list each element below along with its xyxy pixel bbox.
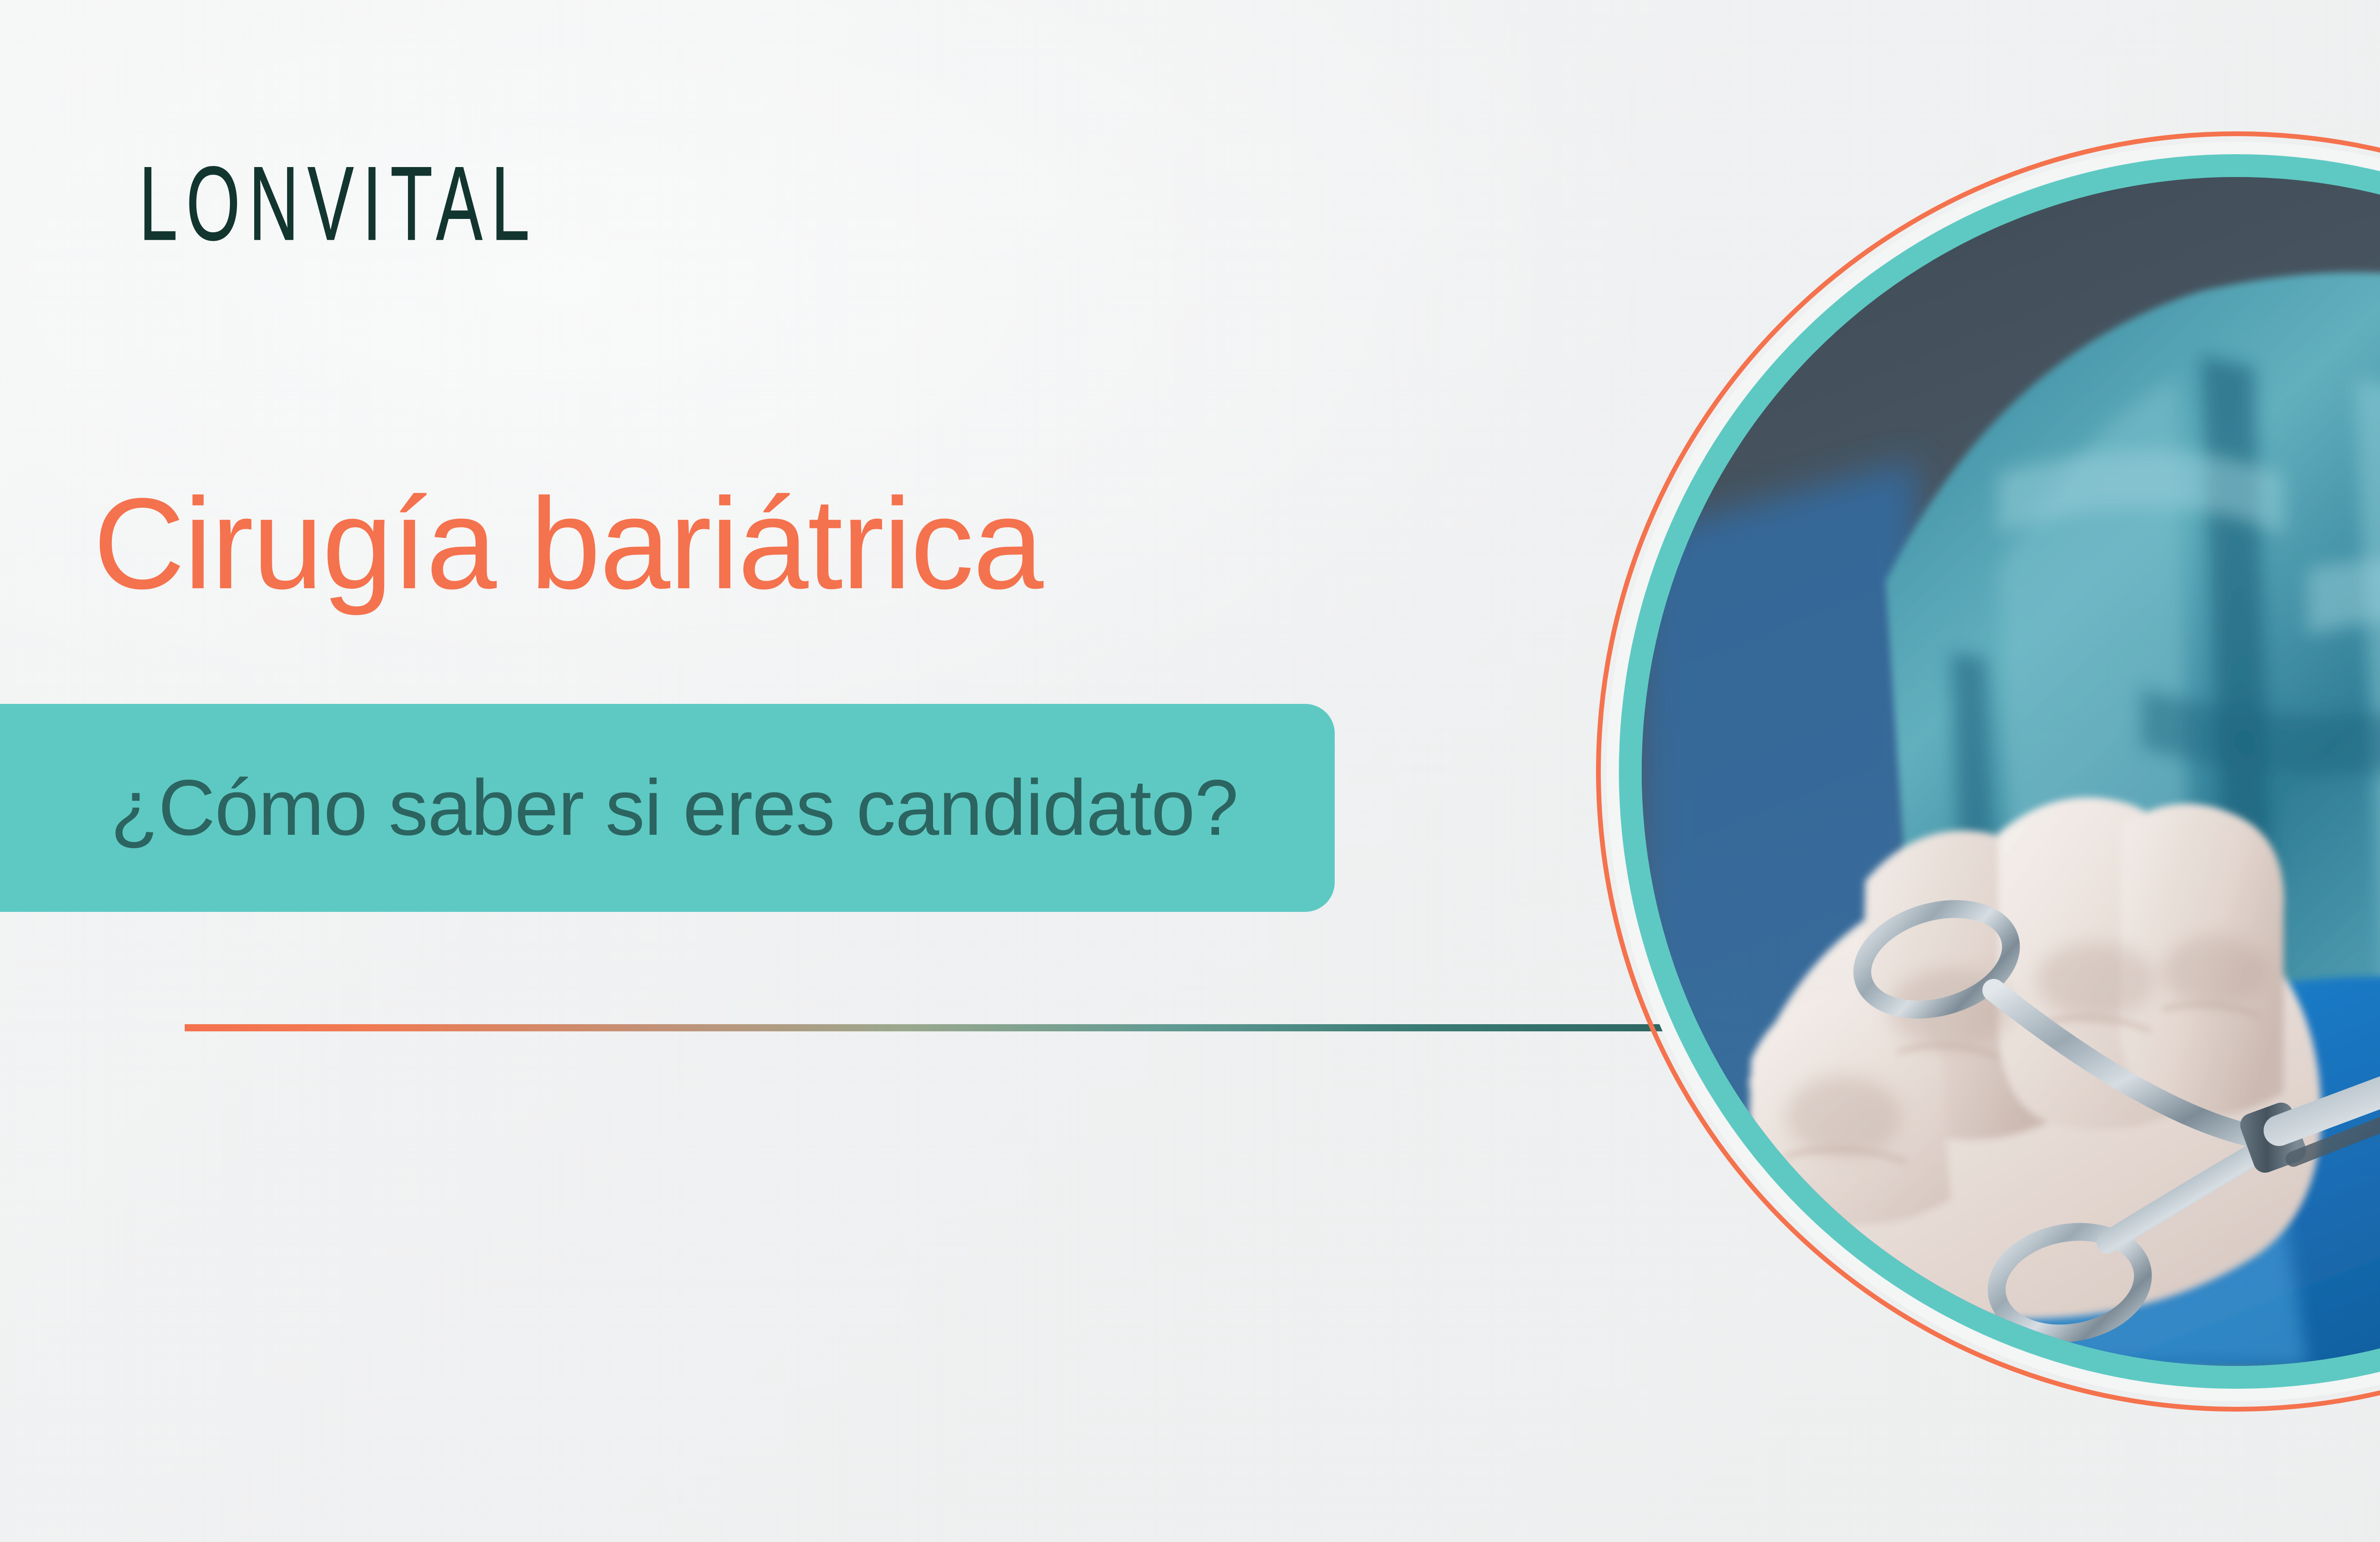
subtitle-band: ¿Cómo saber si eres candidato?: [0, 704, 1335, 912]
hero-image-circle: [1596, 131, 2380, 1412]
poster-canvas: LONVITAL Cirugía bariátrica ¿Cómo saber …: [0, 0, 2380, 1542]
subtitle-text: ¿Cómo saber si eres candidato?: [110, 769, 1238, 848]
page-title: Cirugía bariátrica: [93, 467, 1042, 620]
accent-rule-divider: [185, 1024, 1689, 1031]
photo-alt-text: Cirujano con bata quirúrgica azul sosten…: [0, 0, 0, 0]
brand-logo[interactable]: LONVITAL: [139, 151, 538, 256]
